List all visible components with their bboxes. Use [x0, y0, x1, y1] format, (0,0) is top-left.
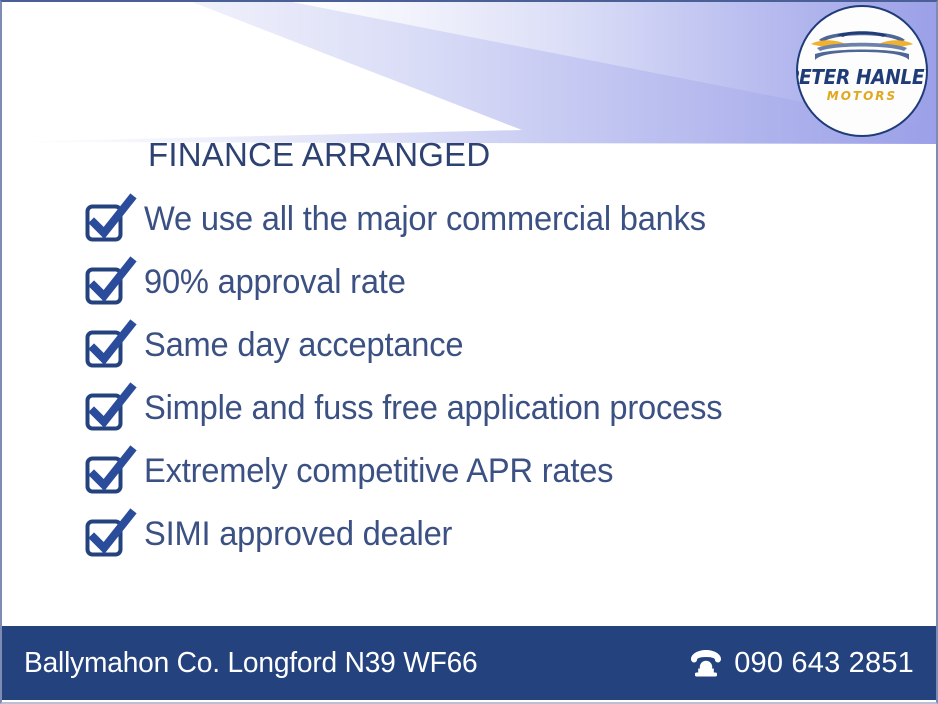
telephone-icon: [689, 648, 723, 678]
dealer-phone-number: 090 643 2851: [734, 647, 914, 680]
list-item: SIMI approved dealer: [84, 503, 884, 566]
finance-advert-card: PETER HANLEY MOTORS FINANCE ARRANGED We …: [0, 0, 938, 704]
logo-brand-name: PETER HANLEY: [796, 67, 928, 88]
checkbox-checked-icon: [84, 386, 136, 432]
list-item: We use all the major commercial banks: [84, 188, 884, 251]
dealer-address: Ballymahon Co. Longford N39 WF66: [24, 647, 477, 680]
checkbox-checked-icon: [84, 323, 136, 369]
dealer-phone[interactable]: 090 643 2851: [689, 647, 914, 680]
list-item-label: 90% approval rate: [144, 263, 406, 302]
list-item: Simple and fuss free application process: [84, 377, 884, 440]
list-item-label: Extremely competitive APR rates: [144, 452, 613, 491]
logo-brand-sub: MOTORS: [827, 89, 897, 103]
footer-contact-bar: Ballymahon Co. Longford N39 WF66 090 643…: [2, 626, 936, 700]
list-item: Same day acceptance: [84, 314, 884, 377]
list-item-label: Simple and fuss free application process: [144, 389, 722, 428]
list-item: Extremely competitive APR rates: [84, 440, 884, 503]
list-item-label: Same day acceptance: [144, 326, 463, 365]
checkbox-checked-icon: [84, 512, 136, 558]
list-item-label: We use all the major commercial banks: [144, 200, 706, 239]
list-item: 90% approval rate: [84, 251, 884, 314]
brand-logo-badge: PETER HANLEY MOTORS: [796, 5, 928, 137]
page-title: FINANCE ARRANGED: [148, 136, 490, 174]
list-item-label: SIMI approved dealer: [144, 515, 452, 554]
checkbox-checked-icon: [84, 260, 136, 306]
car-front-icon: [809, 20, 915, 66]
checkbox-checked-icon: [84, 449, 136, 495]
benefits-list: We use all the major commercial banks 90…: [84, 188, 884, 566]
checkbox-checked-icon: [84, 197, 136, 243]
